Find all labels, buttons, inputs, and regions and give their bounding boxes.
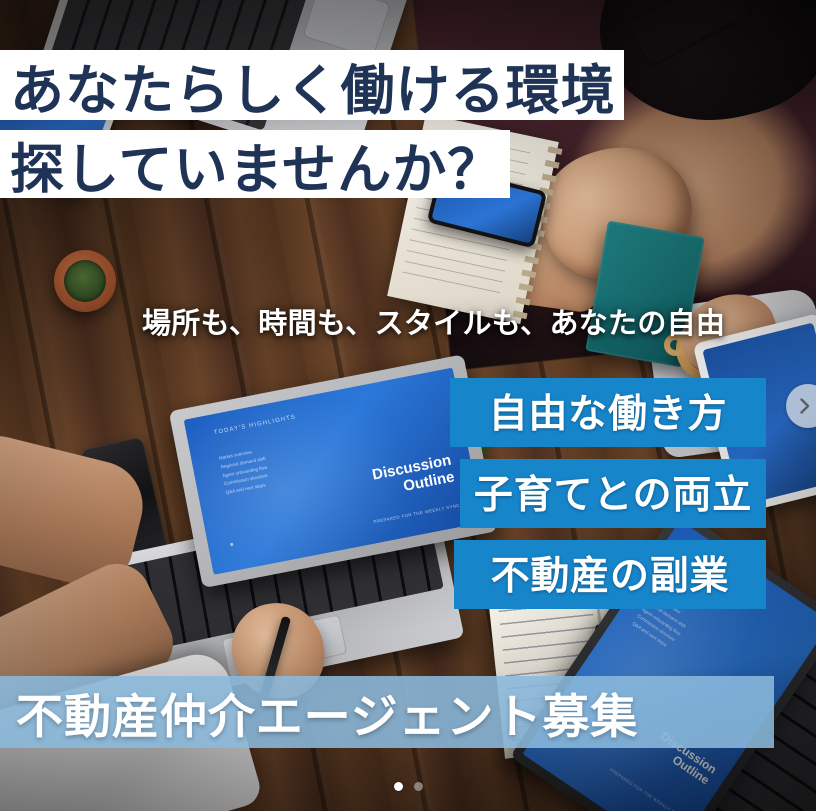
footer-banner: 不動産仲介エージェント募集 (0, 676, 774, 748)
feature-badge-list: 自由な働き方 子育てとの両立 不動産の副業 (450, 378, 766, 621)
feature-badge-3: 不動産の副業 (454, 540, 766, 609)
headline-line-2: 探していませんか？ (0, 130, 510, 198)
tagline-text: 場所も、時間も、スタイルも、あなたの自由 (142, 300, 725, 342)
hero-carousel-slide: TODAY'S HIGHLIGHTS Market overviewRegion… (0, 0, 816, 811)
carousel-dot-1[interactable] (394, 782, 403, 791)
feature-badge-1: 自由な働き方 (450, 378, 766, 447)
carousel-dot-2[interactable] (414, 782, 423, 791)
carousel-dots (0, 782, 816, 791)
chevron-right-icon (796, 397, 814, 415)
footer-banner-text: 不動産仲介エージェント募集 (0, 678, 638, 747)
feature-badge-2: 子育てとの両立 (460, 459, 766, 528)
headline-line-1: あなたらしく働ける環境 (0, 50, 624, 120)
